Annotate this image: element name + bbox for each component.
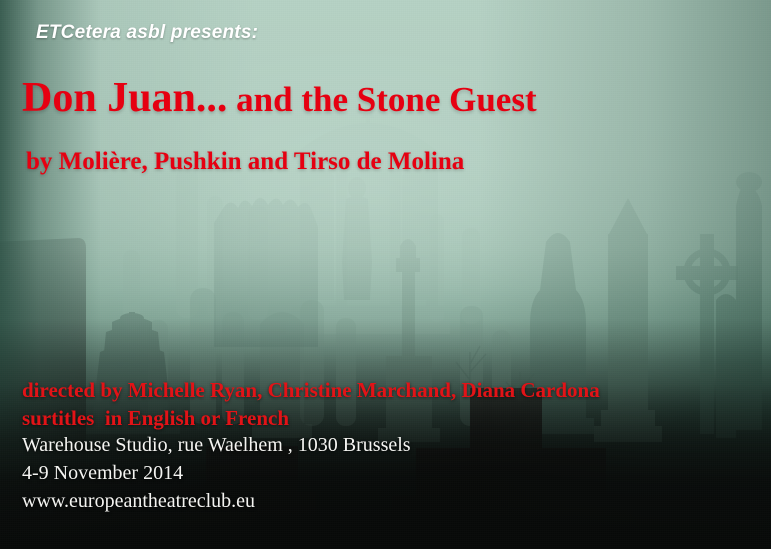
- venue-address: Warehouse Studio, rue Waelhem , 1030 Bru…: [22, 434, 411, 457]
- poster-title-main: Don Juan...: [22, 75, 227, 121]
- poster-title-sub: and the Stone Guest: [227, 80, 536, 119]
- presenter-line: ETCetera asbl presents:: [36, 22, 258, 44]
- surtitles-credit: surtitles in English or French: [22, 406, 289, 431]
- performance-dates: 4-9 November 2014: [22, 462, 183, 485]
- poster-title: Don Juan... and the Stone Guest: [22, 74, 537, 122]
- website-url: www.europeantheatreclub.eu: [22, 490, 255, 513]
- authors-byline: by Molière, Pushkin and Tirso de Molina: [26, 148, 464, 176]
- directors-credit: directed by Michelle Ryan, Christine Mar…: [22, 378, 600, 403]
- poster-canvas: ETCetera asbl presents: Don Juan... and …: [0, 0, 771, 549]
